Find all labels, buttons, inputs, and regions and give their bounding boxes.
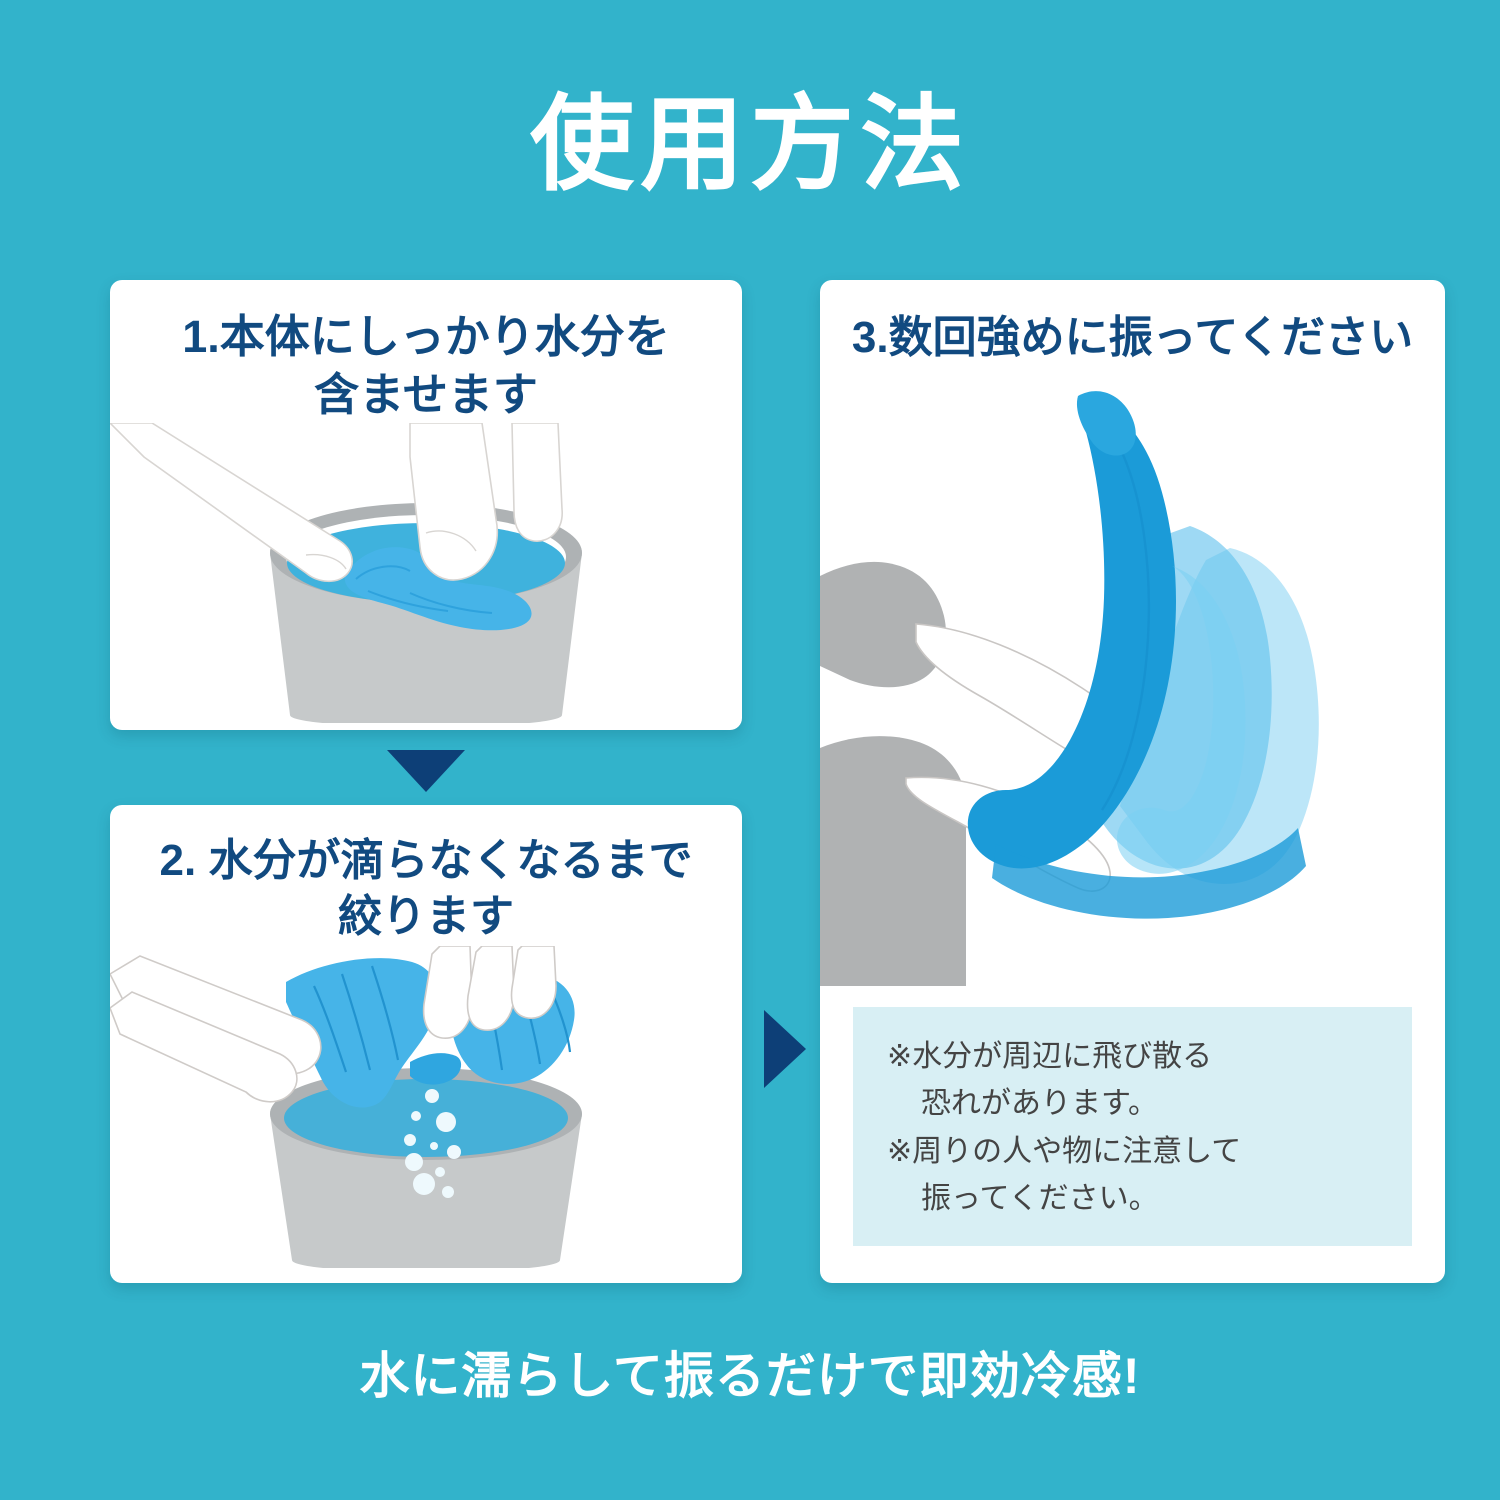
step-1-illustration xyxy=(110,423,742,723)
note-line-2: 恐れがあります。 xyxy=(887,1080,1378,1127)
step-card-1: 1.本体にしっかり水分を 含ませます xyxy=(110,280,742,730)
step-2-heading-line-1: 2. 水分が滴らなくなるまで xyxy=(124,833,728,889)
arrow-down-icon xyxy=(387,750,465,792)
step-3-heading-line-1: 3.数回強めに振ってください xyxy=(830,310,1435,366)
step-1-heading-line-2: 含ませます xyxy=(128,366,724,424)
step-1-heading: 1.本体にしっかり水分を 含ませます xyxy=(110,280,742,423)
step-2-heading-line-2: 絞ります xyxy=(124,889,728,945)
step-card-2: 2. 水分が滴らなくなるまで 絞ります xyxy=(110,805,742,1283)
step-2-heading: 2. 水分が滴らなくなるまで 絞ります xyxy=(110,805,742,946)
page-title: 使用方法 xyxy=(0,88,1500,202)
step-2-illustration xyxy=(110,946,742,1268)
note-line-1: ※水分が周辺に飛び散る xyxy=(887,1033,1378,1080)
towel-top-fold xyxy=(1077,391,1136,455)
note-line-3: ※周りの人や物に注意して xyxy=(887,1128,1378,1175)
caution-note-box: ※水分が周辺に飛び散る 恐れがあります。 ※周りの人や物に注意して 振ってくださ… xyxy=(853,1007,1412,1246)
person-silhouette xyxy=(820,562,966,986)
step-3-heading: 3.数回強めに振ってください xyxy=(820,280,1445,366)
left-hand xyxy=(110,956,321,1102)
note-line-4: 振ってください。 xyxy=(887,1175,1378,1222)
left-hand xyxy=(110,423,352,581)
arrow-right-icon xyxy=(764,1010,806,1088)
step-3-illustration xyxy=(820,366,1445,986)
footer-tagline: 水に濡らして振るだけで即効冷感! xyxy=(0,1336,1500,1408)
step-1-heading-line-1: 1.本体にしっかり水分を xyxy=(128,308,724,366)
far-arm xyxy=(512,423,562,541)
right-hand xyxy=(410,423,497,580)
step-card-3: 3.数回強めに振ってください xyxy=(820,280,1445,1283)
